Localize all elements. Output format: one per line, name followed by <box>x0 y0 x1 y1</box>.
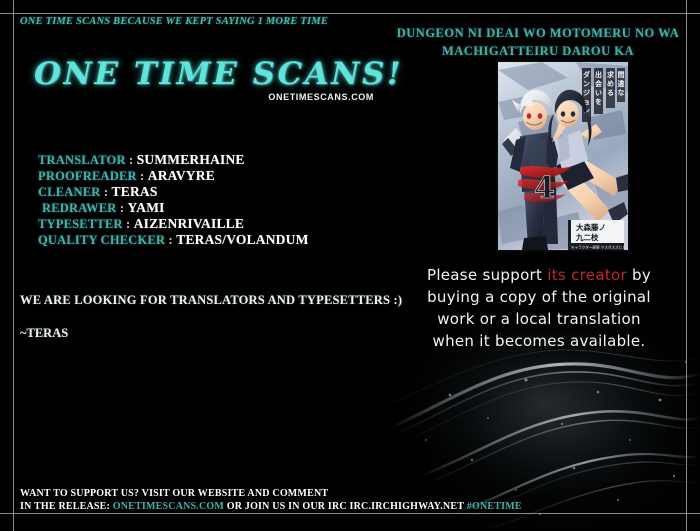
svg-text:ダ: ダ <box>583 70 590 79</box>
group-logo-text: ONE TIME SCANS! <box>34 56 374 92</box>
credit-role: QUALITY CHECKER <box>38 233 165 247</box>
svg-text:キャラクター原案 ヤスダスズヒト: キャラクター原案 ヤスダスズヒト <box>571 245 626 250</box>
support-line-1-post: by <box>627 266 651 284</box>
credit-separator: : <box>117 201 128 215</box>
svg-text:め: め <box>607 80 614 88</box>
banner-tagline-text: ONE TIME SCANS BECAUSE WE KEPT SAYING 1 … <box>20 16 380 27</box>
frame-line-left <box>13 0 14 531</box>
credit-role: TRANSLATOR <box>38 153 126 167</box>
frame-line-bottom <box>0 513 700 514</box>
credit-value: YAMI <box>128 200 165 215</box>
svg-text:九二枝: 九二枝 <box>575 232 599 242</box>
credit-value: TERAS <box>112 184 158 199</box>
series-title: DUNGEON NI DEAI WO MOTOMERU NO WA MACHIG… <box>390 24 686 60</box>
credit-separator: : <box>126 153 137 167</box>
group-logo: ONE TIME SCANS! ONETIMESCANS.COM <box>34 56 374 92</box>
support-line-2: buying a copy of the original <box>405 286 673 308</box>
svg-text:ン: ン <box>583 80 590 88</box>
footer: WANT TO SUPPORT US? VISIT OUR WEBSITE AN… <box>20 487 580 513</box>
footer-line-1: WANT TO SUPPORT US? VISIT OUR WEBSITE AN… <box>20 487 580 500</box>
svg-text:会: 会 <box>595 79 603 88</box>
credit-role: CLEANER <box>38 185 101 199</box>
credit-row: REDRAWER : YAMI <box>38 200 368 216</box>
footer-irc-channel[interactable]: #ONETIME <box>467 501 522 512</box>
credit-role: PROOFREADER <box>38 169 137 183</box>
footer-irc-label: OR JOIN US IN OUR IRC IRC.IRCHIGHWAY.NET <box>227 501 464 512</box>
svg-text:い: い <box>595 89 602 97</box>
credit-separator: : <box>165 233 176 247</box>
manga-cover-image: ダ ン ジ ョ ン 出 会 い を 求 め る 間 違 な <box>498 62 628 250</box>
credit-value: ARAVYRE <box>148 168 215 183</box>
svg-text:求: 求 <box>607 70 615 79</box>
frame-line-top <box>0 13 700 14</box>
credit-row: TRANSLATOR : SUMMERHAINE <box>38 152 368 168</box>
banner-tagline: ONE TIME SCANS BECAUSE WE KEPT SAYING 1 … <box>20 16 380 30</box>
credit-row: TYPESETTER : AIZENRIVAILLE <box>38 216 368 232</box>
credit-row: CLEANER : TERAS <box>38 184 368 200</box>
credit-row: PROOFREADER : ARAVYRE <box>38 168 368 184</box>
support-line-1-highlight: its creator <box>547 266 627 284</box>
recruitment-notice: WE ARE LOOKING FOR TRANSLATORS AND TYPES… <box>20 293 390 341</box>
credit-value: SUMMERHAINE <box>137 152 245 167</box>
credit-role: REDRAWER <box>42 201 117 215</box>
credit-value: TERAS/VOLANDUM <box>176 232 308 247</box>
credit-value: AIZENRIVAILLE <box>134 216 244 231</box>
credit-separator: : <box>137 169 148 183</box>
svg-text:大森藤ノ: 大森藤ノ <box>576 222 606 232</box>
footer-line-2: IN THE RELEASE: ONETIMESCANS.COM OR JOIN… <box>20 500 580 513</box>
frame-line-right <box>686 0 687 531</box>
recruitment-signature: ~TERAS <box>20 326 390 341</box>
svg-text:な: な <box>618 88 625 97</box>
credits-list: TRANSLATOR : SUMMERHAINE PROOFREADER : A… <box>38 152 368 248</box>
credit-row: QUALITY CHECKER : TERAS/VOLANDUM <box>38 232 368 248</box>
footer-website-link[interactable]: ONETIMESCANS.COM <box>113 501 224 512</box>
footer-release-label: IN THE RELEASE: <box>20 501 110 512</box>
credit-separator: : <box>123 217 134 231</box>
series-title-line-2: MACHIGATTEIRU DAROU KA <box>390 42 686 60</box>
support-line-1-pre: Please support <box>427 266 547 284</box>
support-creator-message: Please support its creator by buying a c… <box>405 264 673 352</box>
credit-role: TYPESETTER <box>38 217 123 231</box>
recruitment-message: WE ARE LOOKING FOR TRANSLATORS AND TYPES… <box>20 293 390 308</box>
svg-text:る: る <box>607 89 614 97</box>
series-title-line-1: DUNGEON NI DEAI WO MOTOMERU NO WA <box>390 24 686 42</box>
credits-page: ONE TIME SCANS BECAUSE WE KEPT SAYING 1 … <box>0 0 700 531</box>
group-website-url: ONETIMESCANS.COM <box>268 92 374 102</box>
svg-text:間: 間 <box>618 70 625 79</box>
support-line-4: when it becomes available. <box>405 330 673 352</box>
support-line-1: Please support its creator by <box>405 264 673 286</box>
svg-text:ジ: ジ <box>583 89 590 97</box>
svg-text:を: を <box>595 97 602 106</box>
credit-separator: : <box>101 185 112 199</box>
svg-text:違: 違 <box>618 79 625 88</box>
support-line-3: work or a local translation <box>405 308 673 330</box>
svg-text:出: 出 <box>595 70 602 79</box>
svg-text:4: 4 <box>534 171 555 206</box>
